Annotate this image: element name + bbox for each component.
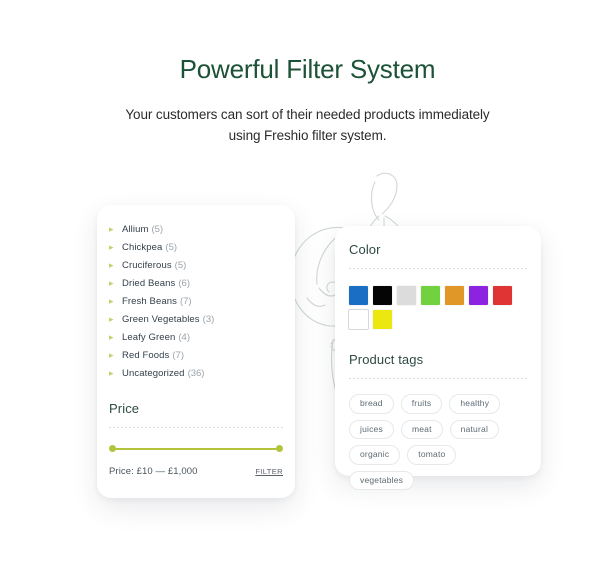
category-item-fresh-beans[interactable]: ▸ Fresh Beans (7) — [109, 292, 295, 310]
page-subtitle: Your customers can sort of their needed … — [0, 104, 615, 146]
color-swatch-white[interactable] — [349, 310, 368, 329]
category-count: (5) — [165, 242, 177, 253]
chevron-right-icon: ▸ — [109, 315, 122, 324]
color-swatch-red[interactable] — [493, 286, 512, 305]
category-filter-card: ▸ Allium (5) ▸ Chickpea (5) ▸ Cruciferou… — [97, 205, 295, 498]
category-name: Fresh Beans — [122, 296, 177, 307]
color-swatch-orange[interactable] — [445, 286, 464, 305]
product-tag-vegetables[interactable]: vegetables — [349, 471, 414, 491]
category-item-cruciferous[interactable]: ▸ Cruciferous (5) — [109, 256, 295, 274]
category-name: Uncategorized — [122, 368, 185, 379]
color-filter-section: Color — [335, 226, 541, 329]
product-tag-natural[interactable]: natural — [450, 420, 499, 440]
product-tag-juices[interactable]: juices — [349, 420, 394, 440]
category-item-chickpea[interactable]: ▸ Chickpea (5) — [109, 238, 295, 256]
price-slider-track[interactable] — [112, 448, 280, 450]
filter-button[interactable]: FILTER — [255, 467, 283, 476]
category-count: (6) — [178, 278, 190, 289]
product-tag-healthy[interactable]: healthy — [449, 394, 500, 414]
product-tag-organic[interactable]: organic — [349, 445, 400, 465]
product-tags-section: Product tags bread fruits healthy juices… — [335, 329, 541, 490]
category-item-leafy-green[interactable]: ▸ Leafy Green (4) — [109, 328, 295, 346]
chevron-right-icon: ▸ — [109, 243, 122, 252]
color-heading: Color — [349, 242, 527, 257]
category-count: (3) — [203, 314, 215, 325]
category-name: Leafy Green — [122, 332, 175, 343]
category-list: ▸ Allium (5) ▸ Chickpea (5) ▸ Cruciferou… — [97, 205, 295, 382]
color-swatch-grid — [349, 286, 527, 329]
chevron-right-icon: ▸ — [109, 351, 122, 360]
chevron-right-icon: ▸ — [109, 369, 122, 378]
price-slider-handle-max[interactable] — [276, 445, 283, 452]
price-divider — [109, 427, 283, 428]
product-tag-fruits[interactable]: fruits — [401, 394, 443, 414]
price-heading: Price — [109, 401, 283, 416]
color-swatch-yellow[interactable] — [373, 310, 392, 329]
category-name: Cruciferous — [122, 260, 172, 271]
category-name: Green Vegetables — [122, 314, 200, 325]
product-tag-meat[interactable]: meat — [401, 420, 443, 440]
category-name: Allium — [122, 224, 148, 235]
price-range-label: Price: £10 — £1,000 — [109, 466, 198, 477]
product-tag-bread[interactable]: bread — [349, 394, 394, 414]
subtitle-line-1: Your customers can sort of their needed … — [0, 104, 615, 125]
category-count: (5) — [151, 224, 163, 235]
product-tags-divider — [349, 378, 527, 379]
category-count: (7) — [180, 296, 192, 307]
color-swatch-green[interactable] — [421, 286, 440, 305]
product-tag-tomato[interactable]: tomato — [407, 445, 456, 465]
category-item-green-vegetables[interactable]: ▸ Green Vegetables (3) — [109, 310, 295, 328]
category-count: (36) — [188, 368, 205, 379]
color-swatch-blue[interactable] — [349, 286, 368, 305]
category-count: (7) — [172, 350, 184, 361]
chevron-right-icon: ▸ — [109, 297, 122, 306]
price-footer-row: Price: £10 — £1,000 FILTER — [109, 466, 283, 477]
category-name: Dried Beans — [122, 278, 175, 289]
chevron-right-icon: ▸ — [109, 261, 122, 270]
price-range-slider[interactable] — [109, 445, 283, 454]
attribute-filter-card: Color Product tags bread fruits healthy — [335, 226, 541, 476]
category-name: Chickpea — [122, 242, 162, 253]
product-tag-list: bread fruits healthy juices meat natural… — [349, 394, 527, 490]
product-tags-heading: Product tags — [349, 352, 527, 367]
category-item-allium[interactable]: ▸ Allium (5) — [109, 220, 295, 238]
color-swatch-black[interactable] — [373, 286, 392, 305]
price-slider-handle-min[interactable] — [109, 445, 116, 452]
subtitle-line-2: using Freshio filter system. — [0, 125, 615, 146]
color-swatch-light-gray[interactable] — [397, 286, 416, 305]
category-item-uncategorized[interactable]: ▸ Uncategorized (36) — [109, 364, 295, 382]
page-header: Powerful Filter System Your customers ca… — [0, 52, 615, 146]
price-filter-section: Price Price: £10 — £1,000 FILTER — [97, 401, 295, 477]
category-item-red-foods[interactable]: ▸ Red Foods (7) — [109, 346, 295, 364]
page-title: Powerful Filter System — [0, 52, 615, 86]
chevron-right-icon: ▸ — [109, 333, 122, 342]
category-count: (4) — [178, 332, 190, 343]
color-divider — [349, 268, 527, 269]
category-count: (5) — [175, 260, 187, 271]
color-swatch-purple[interactable] — [469, 286, 488, 305]
chevron-right-icon: ▸ — [109, 279, 122, 288]
chevron-right-icon: ▸ — [109, 225, 122, 234]
category-item-dried-beans[interactable]: ▸ Dried Beans (6) — [109, 274, 295, 292]
page-root: Powerful Filter System Your customers ca… — [0, 0, 615, 580]
category-name: Red Foods — [122, 350, 169, 361]
